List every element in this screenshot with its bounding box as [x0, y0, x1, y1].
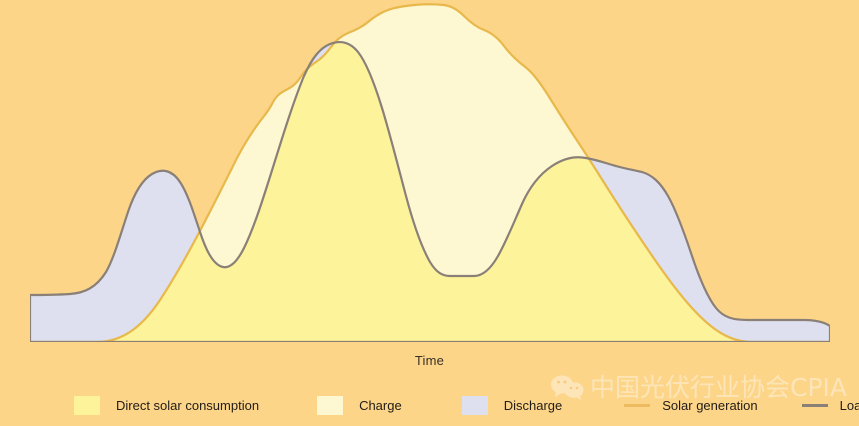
legend-item-discharge[interactable]: Discharge — [462, 396, 563, 415]
legend-item-solar-generation[interactable]: Solar generation — [624, 398, 757, 413]
legend-item-direct-solar-consumption[interactable]: Direct solar consumption — [74, 396, 259, 415]
chart-container: Time Direct solar consumption Charge Dis… — [0, 0, 859, 426]
legend-line-load — [802, 404, 828, 407]
legend-label-direct-solar-consumption: Direct solar consumption — [116, 398, 259, 413]
legend-item-charge[interactable]: Charge — [317, 396, 402, 415]
legend-swatch-direct-solar-consumption — [74, 396, 100, 415]
legend-label-charge: Charge — [359, 398, 402, 413]
legend-swatch-charge — [317, 396, 343, 415]
x-axis-label: Time — [0, 353, 859, 368]
legend-item-load[interactable]: Load — [802, 398, 859, 413]
legend-label-solar-generation: Solar generation — [662, 398, 757, 413]
legend-swatch-discharge — [462, 396, 488, 415]
legend-label-discharge: Discharge — [504, 398, 563, 413]
legend-label-load: Load — [840, 398, 859, 413]
legend-line-solar-generation — [624, 404, 650, 407]
chart-legend: Direct solar consumption Charge Discharg… — [0, 392, 859, 418]
